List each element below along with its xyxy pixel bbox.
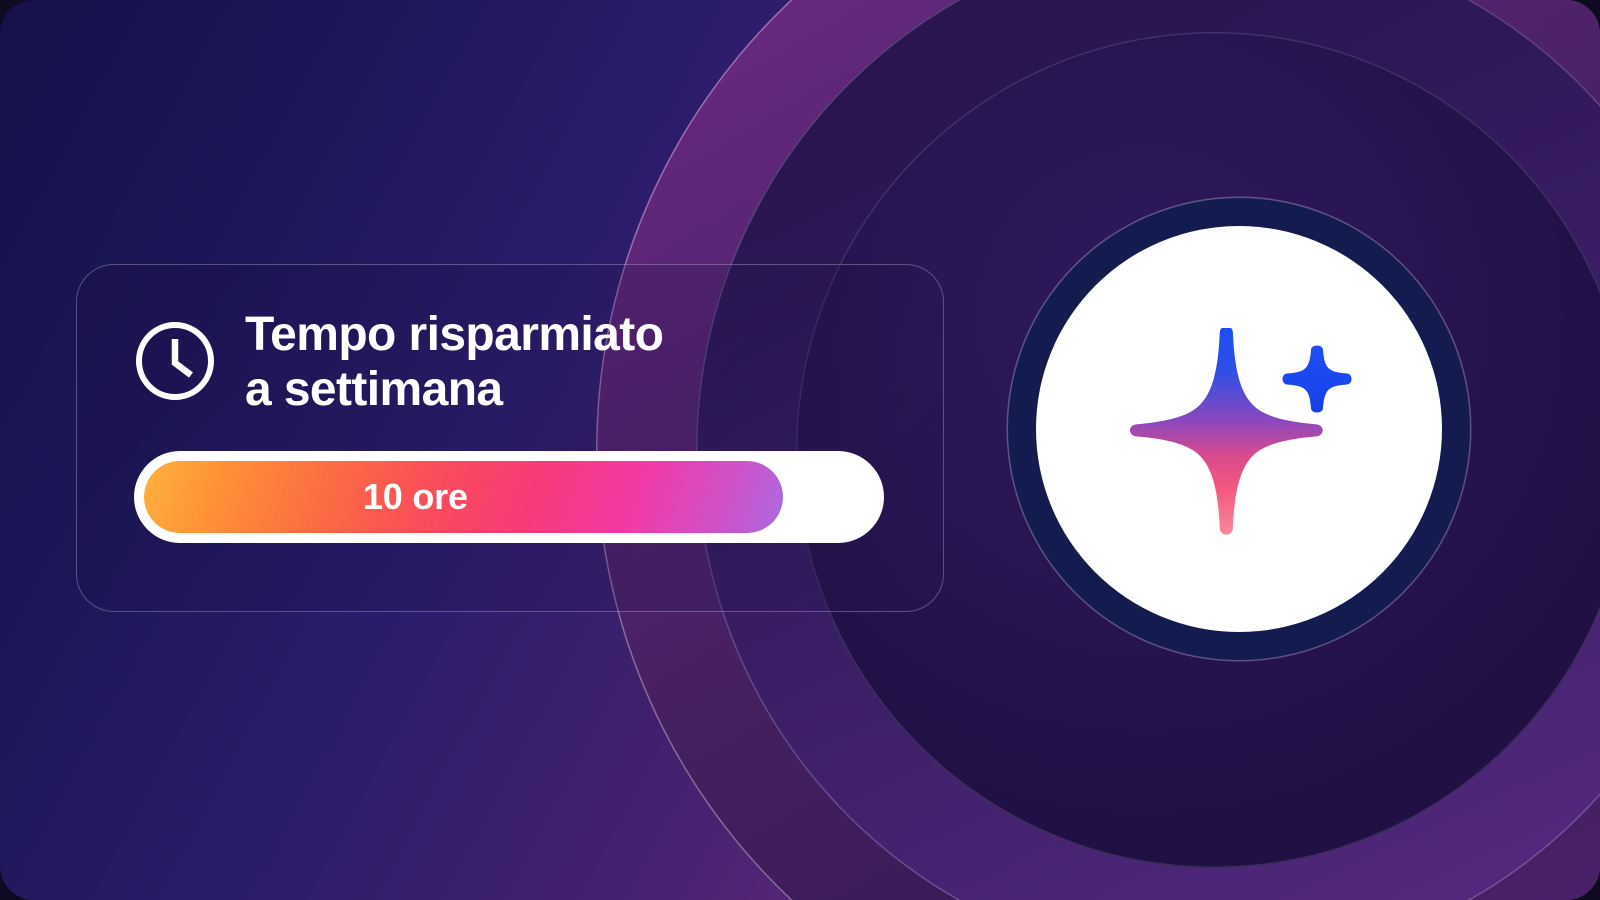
clock-icon [133,319,217,403]
sparkle-plus-icon [1283,346,1352,413]
sparkle-star-shape [1130,328,1323,535]
progress-value-label: 10 ore [363,476,468,518]
promo-banner: Tempo risparmiato a settimana 10 ore [0,0,1600,900]
sparkle-icon [1130,328,1360,538]
progress-bar-track: 10 ore [134,451,884,543]
page-title: Tempo risparmiato a settimana [245,305,663,417]
title-line-1: Tempo risparmiato [245,307,663,362]
stat-card: Tempo risparmiato a settimana 10 ore [76,264,944,612]
sparkle-badge [1008,198,1470,660]
title-line-2: a settimana [245,362,663,417]
sparkle-badge-disc [1036,226,1442,632]
progress-bar-fill: 10 ore [144,461,783,533]
stat-card-header: Tempo risparmiato a settimana [133,305,899,417]
